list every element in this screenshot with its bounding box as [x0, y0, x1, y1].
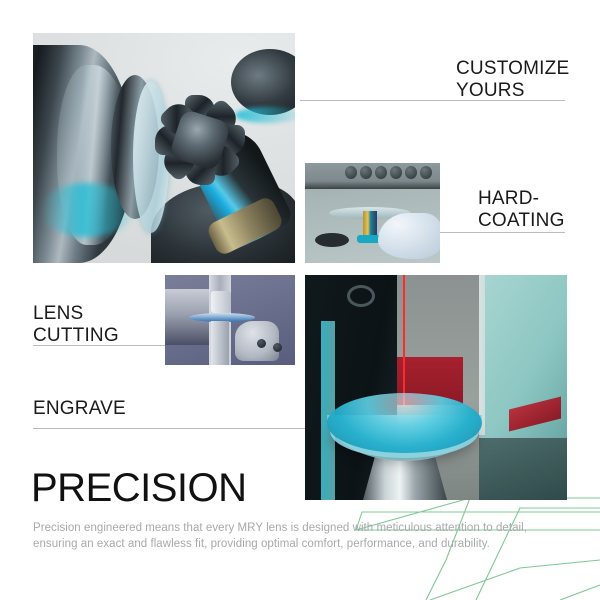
coating-knob-row: [345, 166, 432, 179]
cutting-clamp-body: [211, 321, 229, 365]
coating-spindle: [363, 211, 377, 237]
cutting-bolt: [257, 339, 266, 348]
coating-port: [315, 233, 349, 247]
body-paragraph: Precision engineered means that every MR…: [33, 521, 539, 552]
label-hard-coating: HARD- COATING: [478, 188, 565, 232]
poster-canvas: CUSTOMIZE YOURS HARD- COATING LENS CUTTI…: [0, 0, 600, 600]
milling-cutter-head: [151, 91, 247, 187]
photo-milling: [33, 33, 295, 263]
photo-lens-cutting: [165, 275, 295, 365]
precision-knob: [347, 285, 375, 307]
precision-laser-beam: [403, 275, 405, 405]
rule-engrave: [33, 428, 305, 429]
label-engrave: ENGRAVE: [33, 398, 126, 420]
photo-hard-coating: [305, 163, 440, 263]
cutting-head: [211, 291, 231, 313]
photo-precision-lens: [305, 275, 567, 500]
label-lens-cutting: LENS CUTTING: [33, 303, 119, 347]
rule-hard-coating: [440, 232, 565, 233]
precision-floor: [479, 438, 567, 500]
label-customize-yours: CUSTOMIZE YOURS: [456, 58, 569, 102]
page-title: PRECISION: [31, 466, 247, 510]
precision-lens: [327, 393, 482, 453]
cutting-bolt: [273, 343, 282, 352]
coating-gloved-hand: [378, 213, 440, 259]
